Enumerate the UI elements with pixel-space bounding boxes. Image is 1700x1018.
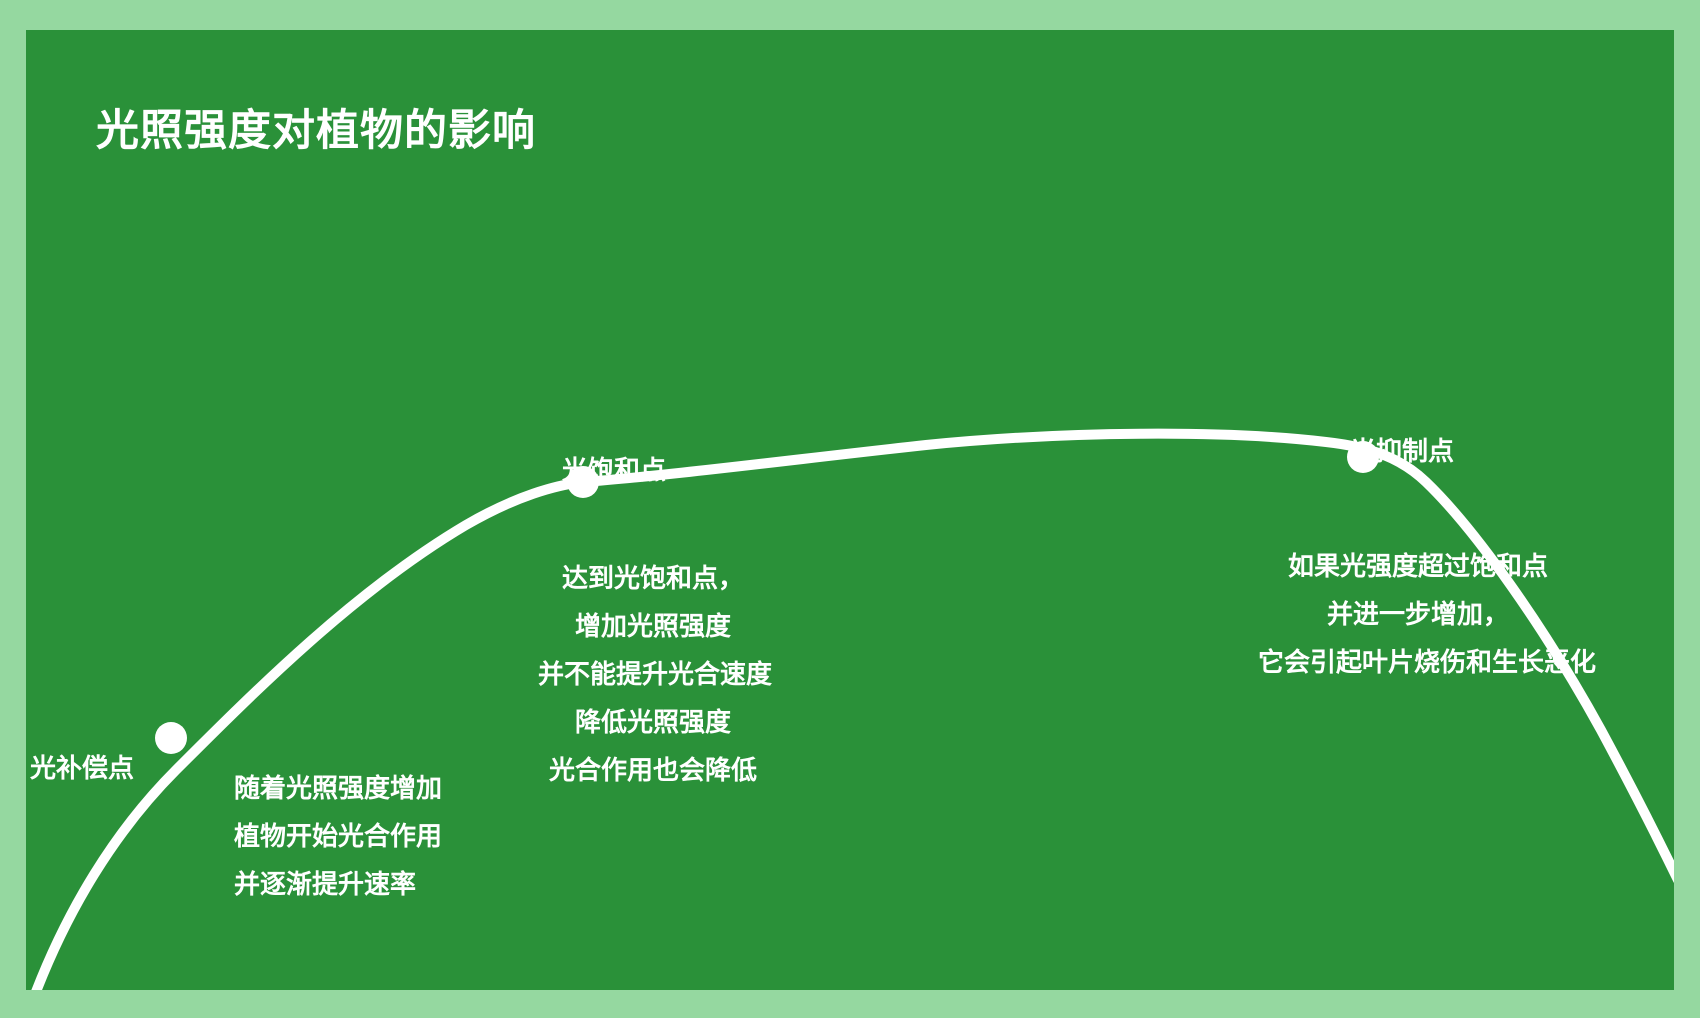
- annotation-inhibition: 如果光强度超过饱和点 并进一步增加， 它会引起叶片烧伤和生长恶化: [1258, 542, 1578, 686]
- node-light-compensation-point[interactable]: [155, 722, 187, 754]
- annotation-line: 随着光照强度增加: [234, 764, 442, 812]
- annotation-line: 光合作用也会降低: [538, 746, 768, 794]
- slide-panel: 光照强度对植物的影响 光补偿点 光饱和点 光抑制点 随着光照强度增加 植物开始光…: [26, 30, 1674, 990]
- label-light-compensation-point: 光补偿点: [30, 753, 134, 784]
- label-light-saturation-point: 光饱和点: [562, 455, 666, 486]
- annotation-line: 达到光饱和点，: [538, 554, 768, 602]
- annotation-line: 并逐渐提升速率: [234, 860, 442, 908]
- slide-root: 光照强度对植物的影响 光补偿点 光饱和点 光抑制点 随着光照强度增加 植物开始光…: [0, 0, 1700, 1018]
- annotation-line: 并不能提升光合速度: [538, 650, 768, 698]
- label-light-inhibition-point: 光抑制点: [1350, 436, 1454, 467]
- page-title: 光照强度对植物的影响: [96, 108, 536, 155]
- annotation-compensation: 随着光照强度增加 植物开始光合作用 并逐渐提升速率: [234, 764, 442, 908]
- annotation-line: 增加光照强度: [538, 602, 768, 650]
- annotation-line: 如果光强度超过饱和点: [1258, 542, 1578, 590]
- annotation-line: 它会引起叶片烧伤和生长恶化: [1258, 638, 1578, 686]
- annotation-line: 植物开始光合作用: [234, 812, 442, 860]
- annotation-saturation: 达到光饱和点， 增加光照强度 并不能提升光合速度 降低光照强度 光合作用也会降低: [538, 554, 768, 794]
- annotation-line: 并进一步增加，: [1258, 590, 1578, 638]
- annotation-line: 降低光照强度: [538, 698, 768, 746]
